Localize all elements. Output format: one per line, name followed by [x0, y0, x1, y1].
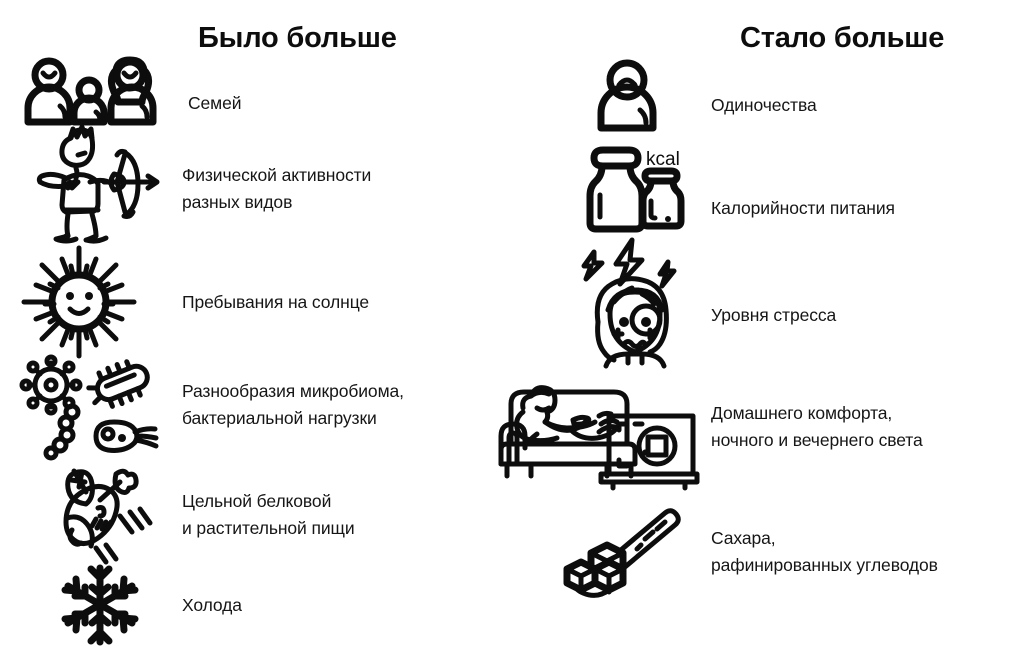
column-title-became-more: Стало больше: [740, 22, 944, 55]
list-item-label: Уровня стресса: [711, 302, 836, 329]
list-item-label: Домашнего комфорта, ночного и вечернего …: [711, 400, 923, 454]
list-item: Цельной белковой и растительной пищи: [0, 464, 500, 564]
list-item-label: Физической активности разных видов: [182, 162, 371, 216]
column-was-more: Было больше: [0, 0, 500, 661]
column-became-more: Стало больше Одиночества: [500, 0, 1023, 661]
list-item-label: Семей: [188, 90, 241, 117]
list-item: Уровня стресса: [500, 238, 1023, 364]
list-item: Семей: [0, 58, 500, 128]
list-item: kcal Калорийности питания: [500, 143, 1023, 231]
list-item-label: Разнообразия микробиома, бактериальной н…: [182, 378, 404, 432]
family-icon: [18, 58, 166, 128]
archer-icon: [26, 128, 160, 240]
column-title-was-more: Было больше: [198, 22, 397, 55]
list-item: Холода: [0, 564, 500, 646]
lonely-person-icon: [584, 60, 670, 130]
list-item-label: Цельной белковой и растительной пищи: [182, 488, 355, 542]
meat-leaf-icon: [44, 464, 164, 564]
sun-icon: [18, 248, 140, 356]
list-item: Разнообразия микробиома, бактериальной н…: [0, 360, 500, 460]
list-item-label: Сахара, рафинированных углеводов: [711, 525, 938, 579]
list-item: Пребывания на солнце: [0, 248, 500, 354]
comparison-infographic: Было больше: [0, 0, 1023, 661]
snowflake-icon: [56, 564, 144, 646]
list-item: Сахара, рафинированных углеводов: [500, 505, 1023, 595]
list-item: Физической активности разных видов: [0, 128, 500, 238]
list-item-label: Пребывания на солнце: [182, 289, 369, 316]
list-item: Одиночества: [500, 60, 1023, 130]
stressed-face-icon: [576, 238, 694, 366]
microbiome-icon: [18, 360, 160, 460]
list-item-label: Одиночества: [711, 92, 817, 119]
list-item-label: Калорийности питания: [711, 195, 895, 222]
kcal-caption: kcal: [646, 149, 680, 170]
sugar-spoon-icon: [545, 505, 693, 597]
list-item-label: Холода: [182, 592, 242, 619]
kcal-jars-icon: kcal: [582, 143, 692, 231]
list-item: Домашнего комфорта, ночного и вечернего …: [500, 372, 1023, 480]
couch-tv-icon: [487, 372, 699, 482]
